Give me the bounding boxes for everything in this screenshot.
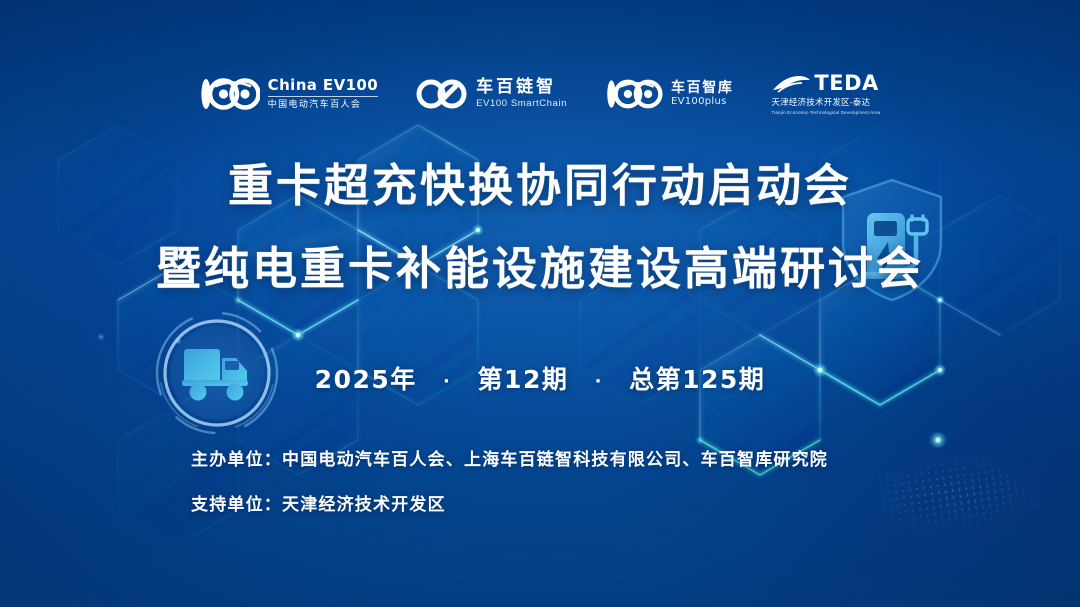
logo-ev100-smartchain: 车百链智 EV100 SmartChain [416,77,567,111]
issue-total: 总第125期 [629,365,765,394]
logo-teda-subtitle: 天津经济技术开发区-泰达 [771,96,870,108]
issue-year: 2025年 [315,365,417,394]
logo-china-ev100-subtitle: 中国电动汽车百人会 [268,96,378,109]
supporter-line: 支持单位：天津经济技术开发区 [191,497,828,514]
logo-teda-name: TEDA [814,73,878,94]
logo-bar: China EV100 中国电动汽车百人会 车百链智 EV100 SmartCh… [0,72,1080,115]
logo-china-ev100-name: China EV100 [268,78,378,93]
issue-separator: · [595,371,603,392]
event-title-line-1: 重卡超充快换协同行动启动会 [0,163,1080,208]
logo-smartchain-name: 车百链智 [476,78,567,95]
event-issue-line: 2025年 · 第12期 · 总第125期 [0,360,1080,396]
logo-china-ev100: China EV100 中国电动汽车百人会 [200,77,378,111]
ev100plus-infinity-mark [605,78,663,110]
smartchain-infinity-mark [416,77,468,111]
logo-ev100plus-subtitle: EV100plus [671,97,733,107]
event-banner: China EV100 中国电动汽车百人会 车百链智 EV100 SmartCh… [0,0,1080,607]
logo-ev100plus-name: 车百智库 [671,80,733,94]
event-title-line-2: 暨纯电重卡补能设施建设高端研讨会 [0,246,1080,291]
logo-teda: TEDA 天津经济技术开发区-泰达 Tianjin Economic-Techn… [771,72,880,115]
organizer-line: 主办单位：中国电动汽车百人会、上海车百链智科技有限公司、车百智库研究院 [191,452,828,469]
logo-ev100plus: 车百智库 EV100plus [605,78,733,110]
organizer-block: 主办单位：中国电动汽车百人会、上海车百链智科技有限公司、车百智库研究院 支持单位… [191,452,828,514]
logo-smartchain-subtitle: EV100 SmartChain [476,99,567,109]
event-title: 重卡超充快换协同行动启动会 暨纯电重卡补能设施建设高端研讨会 [0,163,1080,291]
ev100-infinity-mark [200,77,260,111]
issue-number: 第12期 [478,365,569,394]
teda-wave-mark [771,72,811,94]
logo-teda-subtitle-en: Tianjin Economic-Technological Developme… [771,110,880,115]
issue-separator: · [443,371,451,392]
